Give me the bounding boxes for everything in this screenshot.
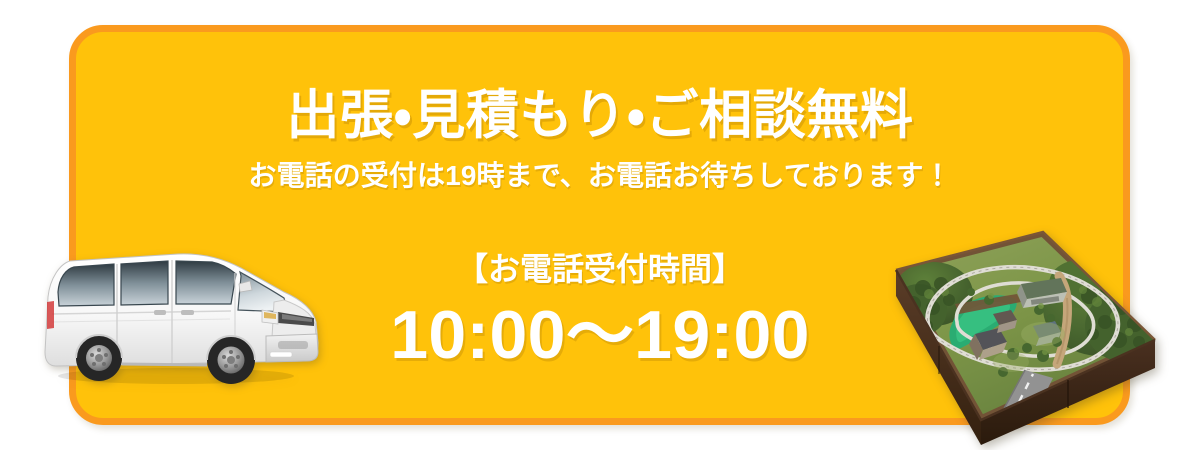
terrain-diorama-photo bbox=[893, 222, 1158, 445]
banner-stage: 出張・見積もり・ご相談無料 お電話の受付は19時まで、お電話お待ちしております！… bbox=[0, 0, 1200, 450]
white-van-photo bbox=[26, 240, 326, 390]
